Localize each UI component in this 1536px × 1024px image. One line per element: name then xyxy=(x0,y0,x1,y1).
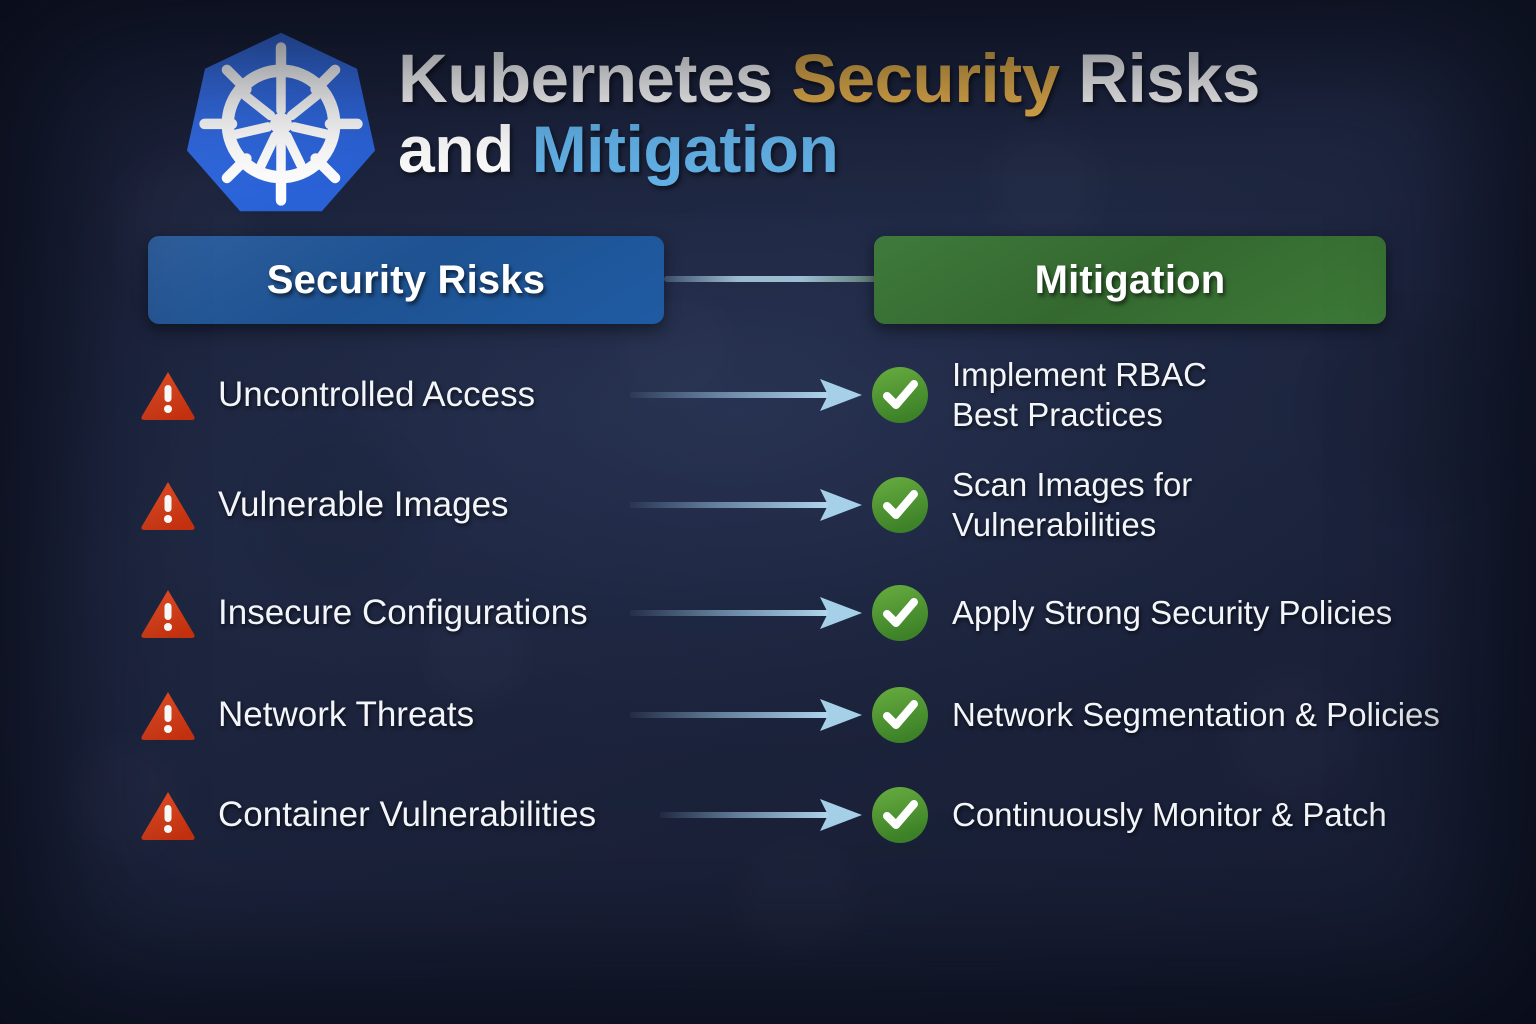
mitigation-cell: Scan Images for Vulnerabilities xyxy=(870,455,1192,555)
arrow-right-icon xyxy=(630,373,865,417)
warning-triangle-icon xyxy=(140,479,196,531)
mitigation-label: Scan Images for Vulnerabilities xyxy=(952,465,1192,546)
title-line-2: and Mitigation xyxy=(398,115,1260,185)
title-part-risks: Risks xyxy=(1060,40,1260,117)
arrow-connector xyxy=(630,693,865,737)
check-circle-icon xyxy=(870,365,930,425)
risk-cell: Container Vulnerabilities xyxy=(140,765,596,865)
arrow-right-icon xyxy=(660,793,865,837)
risk-cell: Vulnerable Images xyxy=(140,455,509,555)
arrow-connector xyxy=(630,483,865,527)
mitigation-label: Continuously Monitor & Patch xyxy=(952,795,1387,835)
risk-cell: Network Threats xyxy=(140,665,474,765)
arrow-connector xyxy=(630,373,865,417)
title-part-kubernetes: Kubernetes xyxy=(398,40,791,117)
mitigation-cell: Continuously Monitor & Patch xyxy=(870,765,1387,865)
mitigation-cell: Apply Strong Security Policies xyxy=(870,563,1392,663)
check-circle-icon xyxy=(870,583,930,643)
check-circle-icon xyxy=(870,685,930,745)
mitigation-label: Implement RBAC Best Practices xyxy=(952,355,1207,436)
mitigation-label: Network Segmentation & Policies xyxy=(952,695,1440,735)
arrow-connector xyxy=(630,591,865,635)
arrow-right-icon xyxy=(630,693,865,737)
risk-cell: Uncontrolled Access xyxy=(140,345,535,445)
header-connector-line xyxy=(664,276,876,282)
risk-label: Vulnerable Images xyxy=(218,485,509,525)
mapping-row: Insecure Configurations Apply Strong Sec… xyxy=(0,563,1536,663)
mapping-row: Network Threats Network Segmentation & P… xyxy=(0,665,1536,765)
kubernetes-logo xyxy=(186,24,376,220)
warning-triangle-icon xyxy=(140,689,196,741)
mitigation-header: Mitigation xyxy=(874,236,1386,324)
infographic-canvas: Kubernetes Security Risks and Mitigation… xyxy=(0,0,1536,1024)
mapping-row: Container Vulnerabilities Continuously M… xyxy=(0,765,1536,865)
arrow-connector xyxy=(660,793,865,837)
check-circle-icon xyxy=(870,475,930,535)
mitigation-cell: Implement RBAC Best Practices xyxy=(870,345,1207,445)
risk-label: Network Threats xyxy=(218,695,474,735)
mitigation-header-label: Mitigation xyxy=(1035,258,1226,303)
risk-label: Uncontrolled Access xyxy=(218,375,535,415)
risk-label: Container Vulnerabilities xyxy=(218,795,596,835)
check-circle-icon xyxy=(870,785,930,845)
warning-triangle-icon xyxy=(140,789,196,841)
title-block: Kubernetes Security Risks and Mitigation xyxy=(186,22,1366,222)
risk-label: Insecure Configurations xyxy=(218,593,588,633)
security-risks-header: Security Risks xyxy=(148,236,664,324)
risk-cell: Insecure Configurations xyxy=(140,563,588,663)
security-risks-header-label: Security Risks xyxy=(267,258,546,303)
title-part-mitigation: Mitigation xyxy=(532,112,839,186)
warning-triangle-icon xyxy=(140,369,196,421)
warning-triangle-icon xyxy=(140,587,196,639)
title-line-1: Kubernetes Security Risks xyxy=(398,42,1260,115)
arrow-right-icon xyxy=(630,483,865,527)
mapping-row: Uncontrolled Access Im xyxy=(0,345,1536,445)
mitigation-cell: Network Segmentation & Policies xyxy=(870,665,1440,765)
mitigation-label: Apply Strong Security Policies xyxy=(952,593,1392,633)
arrow-right-icon xyxy=(630,591,865,635)
title-part-and: and xyxy=(398,112,532,186)
title-text: Kubernetes Security Risks and Mitigation xyxy=(398,42,1260,185)
mapping-row: Vulnerable Images Scan Images for Vulner… xyxy=(0,455,1536,555)
title-part-security: Security xyxy=(791,40,1059,117)
